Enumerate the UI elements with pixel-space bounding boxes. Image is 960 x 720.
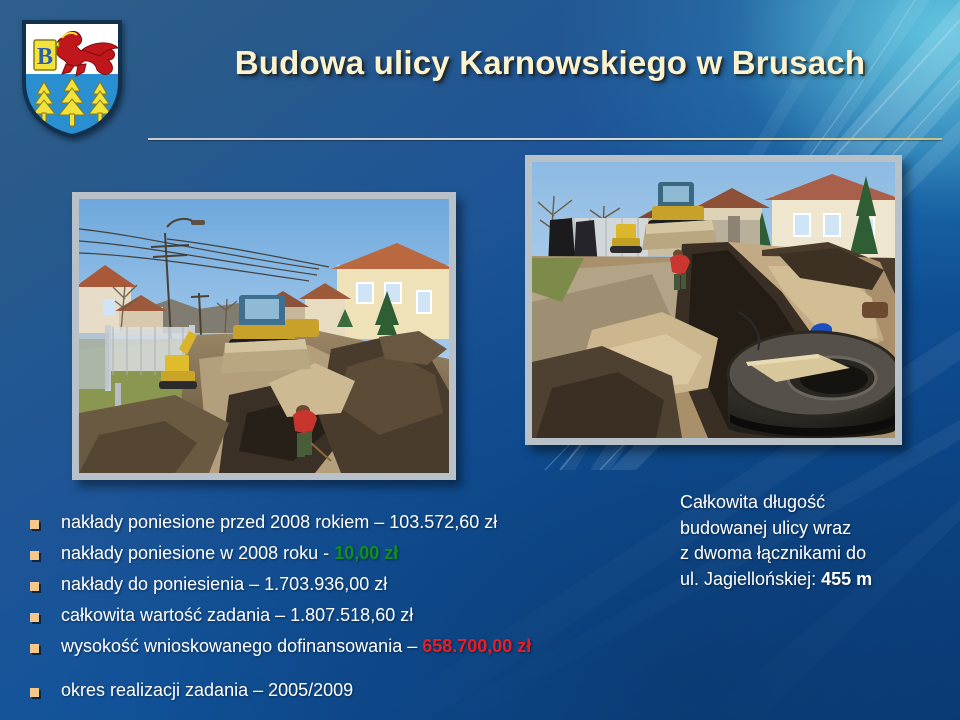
list-item-text: nakłady poniesione w 2008 roku - 10,00 z… bbox=[61, 543, 398, 565]
bullet-square-icon bbox=[30, 551, 39, 560]
bullet-square-icon bbox=[30, 688, 39, 697]
bullet-square-icon bbox=[30, 613, 39, 622]
list-item-text: okres realizacji zadania – 2005/2009 bbox=[61, 680, 353, 702]
bullet-square-icon bbox=[30, 520, 39, 529]
list-item: nakłady poniesione przed 2008 rokiem – 1… bbox=[30, 512, 670, 534]
list-item: nakłady do poniesienia – 1.703.936,00 zł bbox=[30, 574, 670, 596]
bullet-list: nakłady poniesione przed 2008 rokiem – 1… bbox=[30, 512, 670, 711]
street-length-value: 455 m bbox=[821, 569, 872, 589]
note-line-1: Całkowita długość bbox=[680, 490, 950, 516]
highlight-red-value: 658.700,00 zł bbox=[422, 636, 531, 656]
bullet-square-icon bbox=[30, 644, 39, 653]
svg-text:B: B bbox=[37, 44, 53, 70]
note-line-4: ul. Jagiellońskiej: 455 m bbox=[680, 567, 950, 593]
note-line-4-prefix: ul. Jagiellońskiej: bbox=[680, 569, 821, 589]
photo-road-construction bbox=[72, 192, 456, 480]
list-item-text: całkowita wartość zadania – 1.807.518,60… bbox=[61, 605, 413, 627]
highlight-green-value: 10,00 zł bbox=[334, 543, 398, 563]
list-item: wysokość wnioskowanego dofinansowania – … bbox=[30, 636, 670, 658]
page-title: Budowa ulicy Karnowskiego w Brusach bbox=[150, 44, 950, 82]
list-item: całkowita wartość zadania – 1.807.518,60… bbox=[30, 605, 670, 627]
brusy-coat-of-arms-icon: B bbox=[18, 16, 126, 140]
photo-trench-manhole bbox=[525, 155, 902, 445]
title-divider bbox=[148, 138, 942, 140]
bullet-square-icon bbox=[30, 582, 39, 591]
note-line-2: budowanej ulicy wraz bbox=[680, 516, 950, 542]
list-item-text: nakłady poniesione przed 2008 rokiem – 1… bbox=[61, 512, 497, 534]
list-item: nakłady poniesione w 2008 roku - 10,00 z… bbox=[30, 543, 670, 565]
street-length-note: Całkowita długość budowanej ulicy wraz z… bbox=[680, 490, 950, 592]
list-item-text: nakłady do poniesienia – 1.703.936,00 zł bbox=[61, 574, 387, 596]
note-line-3: z dwoma łącznikami do bbox=[680, 541, 950, 567]
presentation-slide: B bbox=[0, 0, 960, 720]
list-item-text: wysokość wnioskowanego dofinansowania – … bbox=[61, 636, 531, 658]
list-item: okres realizacji zadania – 2005/2009 bbox=[30, 680, 670, 702]
